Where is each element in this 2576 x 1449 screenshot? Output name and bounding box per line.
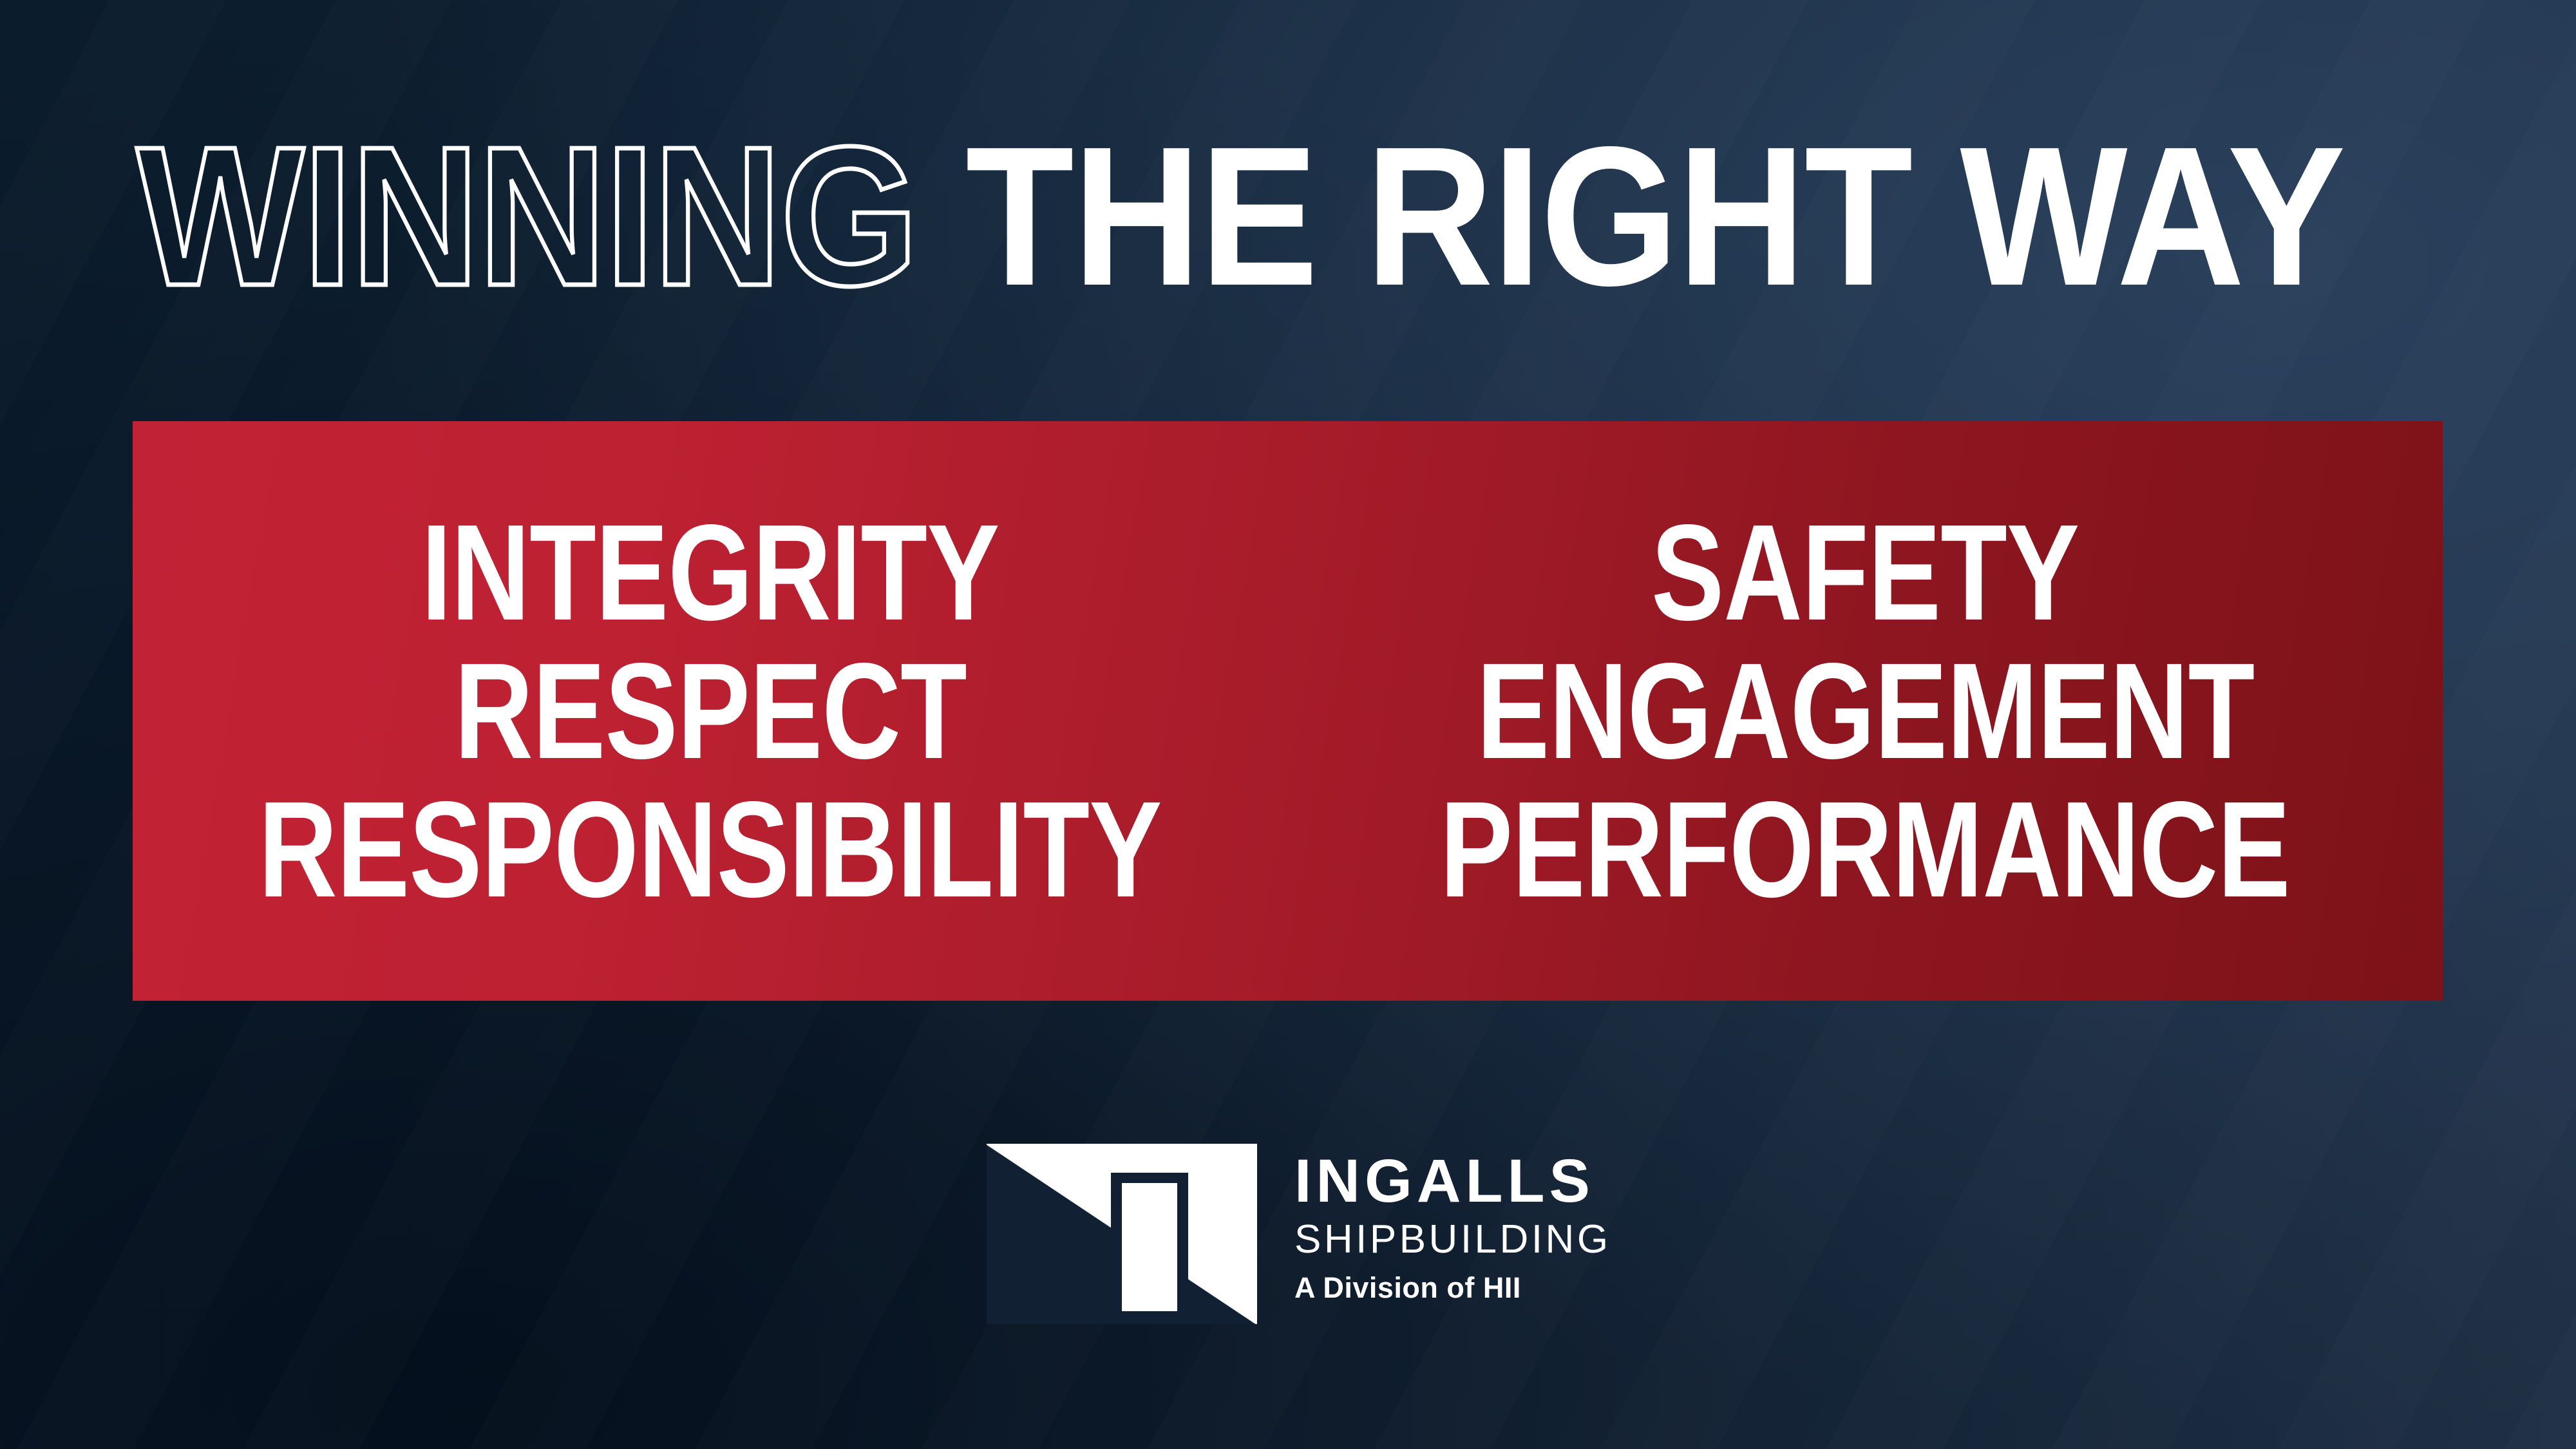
logo-subtitle: SHIPBUILDING — [1294, 1215, 1611, 1264]
value-cell: INTEGRITY — [133, 504, 1288, 642]
logo-name: INGALLS — [1294, 1150, 1611, 1213]
value-label-engagement: ENGAGEMENT — [1476, 643, 2254, 779]
value-cell: PERFORMANCE — [1288, 781, 2443, 919]
value-label-respect: RESPECT — [454, 643, 966, 779]
mark-vertical-bar-inner — [1122, 1183, 1177, 1311]
mark-vertical-bar — [1111, 1173, 1188, 1318]
logo-lockup: INGALLS SHIPBUILDING A Division of HII — [987, 1144, 1611, 1324]
headline-spacer — [917, 106, 965, 327]
value-label-responsibility: RESPONSIBILITY — [259, 781, 1162, 918]
slide-canvas: WINNING THE RIGHT WAY INTEGRITY SAFETY R… — [0, 0, 2576, 1449]
values-grid: INTEGRITY SAFETY RESPECT ENGAGEMENT RESP… — [133, 421, 2443, 1001]
headline-solid-words: THE RIGHT WAY — [965, 106, 2344, 327]
value-cell: RESPONSIBILITY — [133, 781, 1288, 919]
headline-outline-word: WINNING — [137, 106, 917, 327]
logo-wordmark: INGALLS SHIPBUILDING A Division of HII — [1294, 1144, 1611, 1305]
page-title: WINNING THE RIGHT WAY — [137, 117, 2345, 316]
value-label-safety: SAFETY — [1651, 504, 2079, 641]
logo-tagline: A Division of HII — [1294, 1271, 1611, 1305]
value-cell: RESPECT — [133, 642, 1288, 781]
value-label-performance: PERFORMANCE — [1440, 781, 2290, 918]
values-banner: INTEGRITY SAFETY RESPECT ENGAGEMENT RESP… — [133, 421, 2443, 1001]
value-cell: SAFETY — [1288, 504, 2443, 642]
value-label-integrity: INTEGRITY — [421, 504, 999, 641]
value-cell: ENGAGEMENT — [1288, 642, 2443, 781]
ingalls-mark-icon — [987, 1144, 1257, 1324]
